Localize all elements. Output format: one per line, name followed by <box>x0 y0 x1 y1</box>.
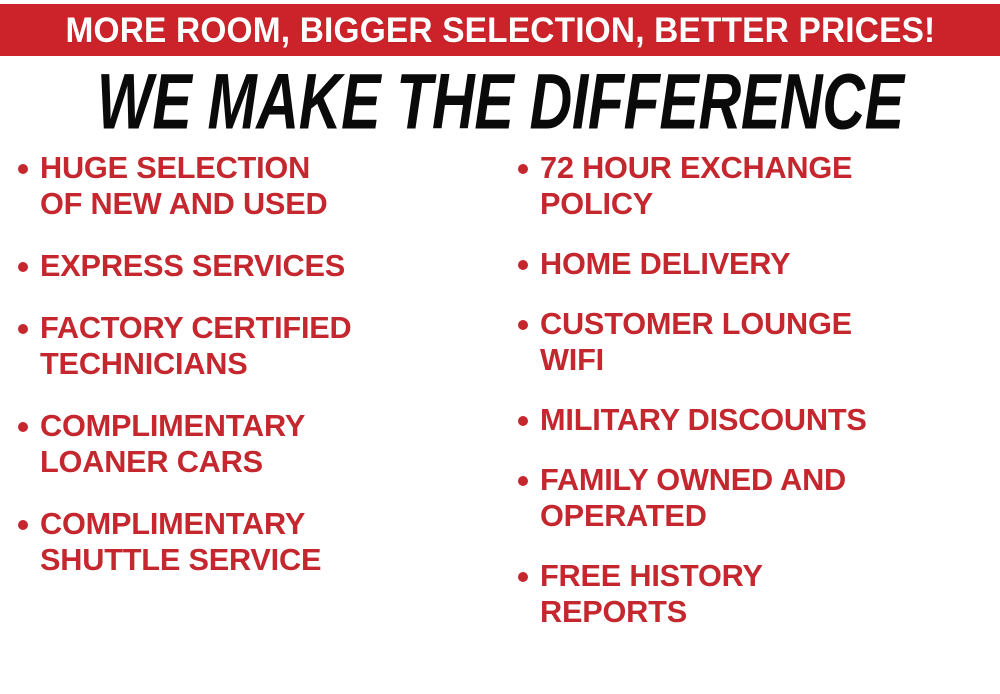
bullet-dot-icon <box>518 572 528 582</box>
list-item: COMPLIMENTARY LOANER CARS <box>18 408 500 480</box>
promo-graphic: MORE ROOM, BIGGER SELECTION, BETTER PRIC… <box>0 0 1000 694</box>
bullet-dot-icon <box>518 164 528 174</box>
bullet-dot-icon <box>518 260 528 270</box>
list-item: HUGE SELECTION OF NEW AND USED <box>18 150 500 222</box>
bullet-dot-icon <box>518 320 528 330</box>
bullet-dot-icon <box>18 422 28 432</box>
list-item-label: FAMILY OWNED AND OPERATED <box>540 462 995 534</box>
list-item: HOME DELIVERY <box>518 246 1000 282</box>
banner-headline-text: MORE ROOM, BIGGER SELECTION, BETTER PRIC… <box>65 13 935 48</box>
list-item: FREE HISTORY REPORTS <box>518 558 1000 630</box>
list-item-label: HOME DELIVERY <box>540 246 995 282</box>
list-item-label: COMPLIMENTARY SHUTTLE SERVICE <box>40 506 495 578</box>
list-item: COMPLIMENTARY SHUTTLE SERVICE <box>18 506 500 578</box>
list-item: MILITARY DISCOUNTS <box>518 402 1000 438</box>
list-item-label: MILITARY DISCOUNTS <box>540 402 995 438</box>
list-item: CUSTOMER LOUNGE WIFI <box>518 306 1000 378</box>
list-item-label: COMPLIMENTARY LOANER CARS <box>40 408 495 480</box>
list-item: EXPRESS SERVICES <box>18 248 500 284</box>
main-headline-text: WE MAKE THE DIFFERENCE <box>97 63 904 141</box>
benefits-column-right: 72 HOUR EXCHANGE POLICY HOME DELIVERY CU… <box>518 150 1000 654</box>
list-item-label: EXPRESS SERVICES <box>40 248 495 284</box>
list-item-label: 72 HOUR EXCHANGE POLICY <box>540 150 995 222</box>
list-item: FAMILY OWNED AND OPERATED <box>518 462 1000 534</box>
list-item-label: HUGE SELECTION OF NEW AND USED <box>40 150 495 222</box>
list-item: 72 HOUR EXCHANGE POLICY <box>518 150 1000 222</box>
list-item-label: FACTORY CERTIFIED TECHNICIANS <box>40 310 495 382</box>
bullet-dot-icon <box>18 520 28 530</box>
list-item-label: CUSTOMER LOUNGE WIFI <box>540 306 995 378</box>
bullet-dot-icon <box>18 324 28 334</box>
list-item-label: FREE HISTORY REPORTS <box>540 558 995 630</box>
bullet-dot-icon <box>18 164 28 174</box>
bullet-dot-icon <box>518 416 528 426</box>
headline-area: WE MAKE THE DIFFERENCE <box>0 66 1000 138</box>
list-item: FACTORY CERTIFIED TECHNICIANS <box>18 310 500 382</box>
benefits-columns: HUGE SELECTION OF NEW AND USED EXPRESS S… <box>0 150 1000 694</box>
bullet-dot-icon <box>518 476 528 486</box>
bullet-dot-icon <box>18 262 28 272</box>
top-banner: MORE ROOM, BIGGER SELECTION, BETTER PRIC… <box>0 4 1000 56</box>
benefits-column-left: HUGE SELECTION OF NEW AND USED EXPRESS S… <box>18 150 500 604</box>
